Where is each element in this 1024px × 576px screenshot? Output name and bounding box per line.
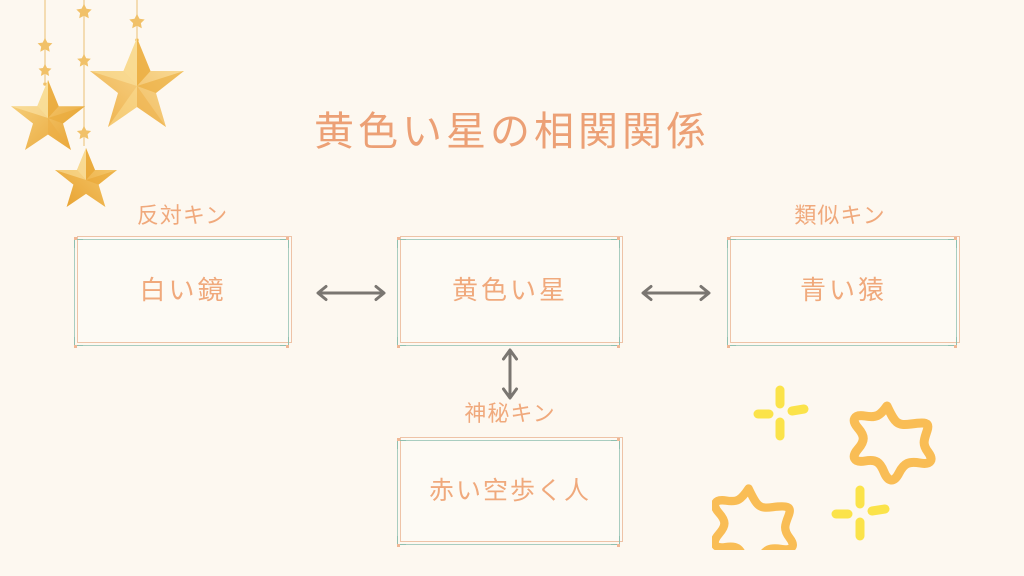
node-name-left: 白い鏡 xyxy=(74,236,292,346)
node-label-left: 反対キン xyxy=(75,205,290,227)
connector-center-right-double-arrow[interactable] xyxy=(638,281,714,305)
node-name-center: 黄色い星 xyxy=(397,236,623,346)
node-box-left[interactable]: 白い鏡 xyxy=(74,236,292,346)
connector-center-bottom-double-arrow[interactable] xyxy=(498,346,522,402)
node-name-right: 青い猿 xyxy=(727,236,960,346)
hanging-gold-stars-decoration xyxy=(0,0,215,219)
node-label-right: 類似キン xyxy=(730,205,950,227)
node-label-bottom: 神秘キン xyxy=(397,403,623,425)
connector-left-center-double-arrow[interactable] xyxy=(313,281,389,305)
doodle-star-sparkles-decoration xyxy=(712,378,944,550)
node-name-bottom: 赤い空歩く人 xyxy=(397,437,623,545)
node-box-right[interactable]: 青い猿 xyxy=(727,236,960,346)
node-box-center[interactable]: 黄色い星 xyxy=(397,236,623,346)
node-box-bottom[interactable]: 赤い空歩く人 xyxy=(397,437,623,545)
slide-canvas: 黄色い星の相関関係 反対キン 白い鏡 黄色い星 xyxy=(0,0,1024,576)
page-title: 黄色い星の相関関係 xyxy=(0,112,1024,152)
